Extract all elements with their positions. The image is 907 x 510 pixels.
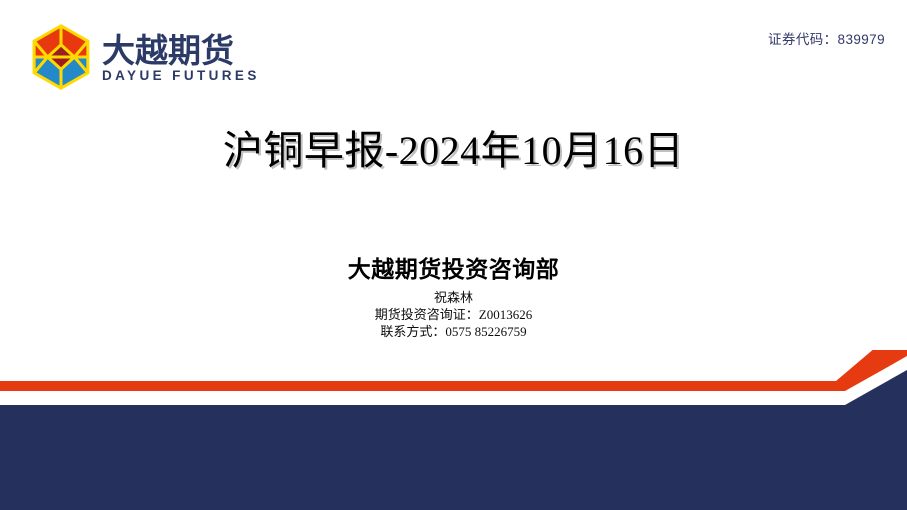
byline-block: 大越期货投资咨询部 祝森林 期货投资咨询证：Z0013626 联系方式：0575…	[0, 256, 907, 341]
brand-logo: 大越期货 DAYUE FUTURES	[30, 24, 260, 90]
dayue-hexagon-cube-logo	[30, 24, 92, 90]
orange-navy-corner-band	[0, 350, 907, 510]
slide-root: 大越期货 DAYUE FUTURES 证券代码：839979 沪铜早报-2024…	[0, 0, 907, 510]
author-name: 祝森林	[0, 290, 907, 306]
contact-phone: 联系方式：0575 85226759	[0, 323, 907, 341]
department-name: 大越期货投资咨询部	[0, 256, 907, 284]
page-title: 沪铜早报-2024年10月16日	[0, 128, 907, 174]
license-number: 期货投资咨询证：Z0013626	[0, 306, 907, 324]
orange-accent-stripe	[0, 350, 907, 391]
logo-wordmark: 大越期货 DAYUE FUTURES	[102, 30, 260, 85]
security-code-label: 证券代码：839979	[768, 28, 885, 48]
logo-company-name-cn: 大越期货	[102, 34, 260, 68]
logo-company-name-en: DAYUE FUTURES	[102, 69, 260, 84]
